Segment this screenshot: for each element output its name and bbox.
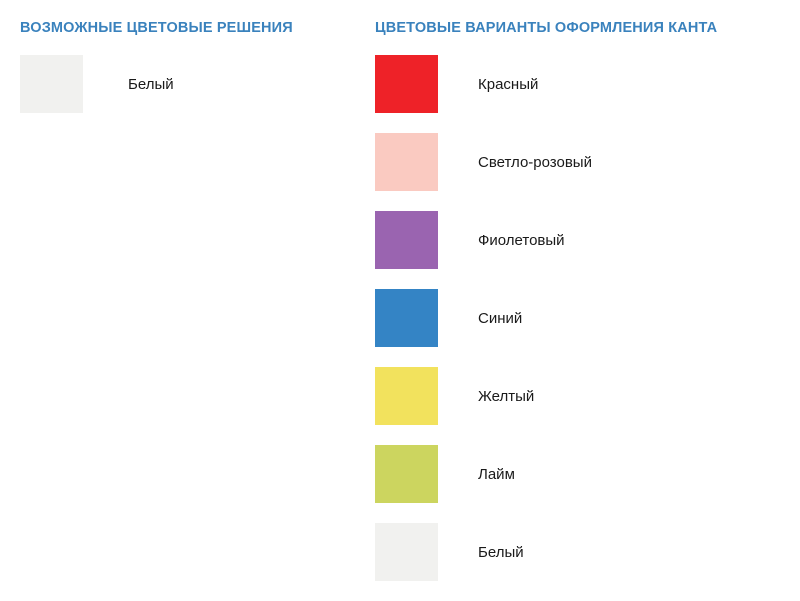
- swatch-label: Светло-розовый: [478, 155, 592, 170]
- swatch-list-edging-color-variants: Красный Светло-розовый Фиолетовый Синий …: [375, 55, 785, 581]
- swatch-row[interactable]: Лайм: [375, 445, 785, 503]
- color-swatch-siniy[interactable]: [375, 289, 438, 347]
- swatch-label: Желтый: [478, 389, 534, 404]
- swatch-row[interactable]: Желтый: [375, 367, 785, 425]
- color-swatch-svetlo-rozovyy[interactable]: [375, 133, 438, 191]
- swatch-label: Фиолетовый: [478, 233, 565, 248]
- swatch-list-possible-color-solutions: Белый: [20, 55, 360, 113]
- color-options-page: ВОЗМОЖНЫЕ ЦВЕТОВЫЕ РЕШЕНИЯ Белый ЦВЕТОВЫ…: [0, 0, 800, 600]
- column-title-edging-color-variants: ЦВЕТОВЫЕ ВАРИАНТЫ ОФОРМЛЕНИЯ КАНТА: [375, 0, 785, 38]
- color-swatch-laym[interactable]: [375, 445, 438, 503]
- color-swatch-fioletovyy[interactable]: [375, 211, 438, 269]
- swatch-row[interactable]: Белый: [375, 523, 785, 581]
- column-possible-color-solutions: ВОЗМОЖНЫЕ ЦВЕТОВЫЕ РЕШЕНИЯ Белый: [20, 0, 360, 133]
- color-swatch-krasnyy[interactable]: [375, 55, 438, 113]
- swatch-row[interactable]: Белый: [20, 55, 360, 113]
- swatch-label: Лайм: [478, 467, 515, 482]
- swatch-row[interactable]: Красный: [375, 55, 785, 113]
- swatch-label: Белый: [478, 545, 524, 560]
- swatch-label: Красный: [478, 77, 538, 92]
- column-title-possible-color-solutions: ВОЗМОЖНЫЕ ЦВЕТОВЫЕ РЕШЕНИЯ: [20, 0, 360, 38]
- swatch-label: Белый: [128, 77, 174, 92]
- swatch-row[interactable]: Светло-розовый: [375, 133, 785, 191]
- swatch-row[interactable]: Синий: [375, 289, 785, 347]
- column-edging-color-variants: ЦВЕТОВЫЕ ВАРИАНТЫ ОФОРМЛЕНИЯ КАНТА Красн…: [375, 0, 785, 601]
- color-swatch-belyy[interactable]: [20, 55, 83, 113]
- swatch-row[interactable]: Фиолетовый: [375, 211, 785, 269]
- swatch-label: Синий: [478, 311, 522, 326]
- color-swatch-zheltyy[interactable]: [375, 367, 438, 425]
- color-swatch-belyy[interactable]: [375, 523, 438, 581]
